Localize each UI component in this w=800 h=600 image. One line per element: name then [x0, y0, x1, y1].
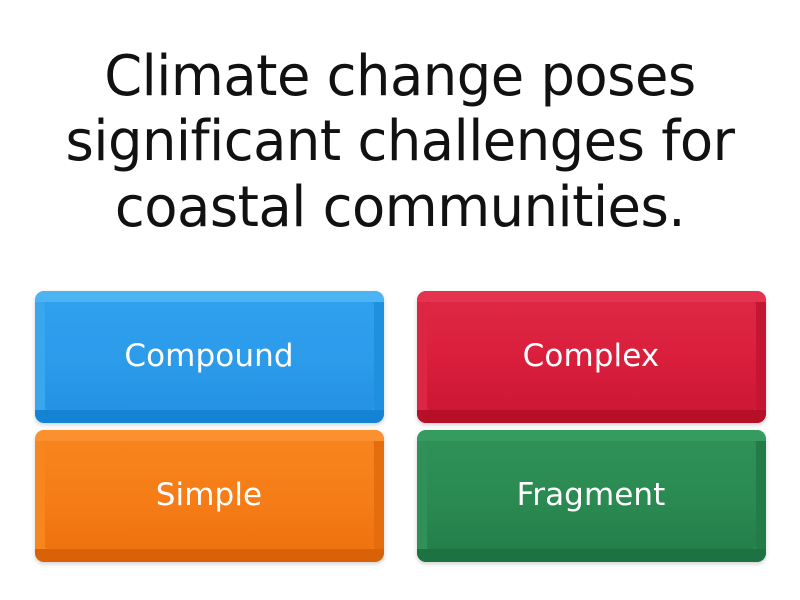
button-bevel-bottom [35, 410, 384, 423]
button-inner-panel: Compound [45, 302, 374, 410]
button-bevel-top [35, 430, 384, 441]
question-text: Climate change poses significant challen… [26, 44, 775, 241]
answer-option-simple[interactable]: Simple [35, 430, 384, 562]
button-bevel-top [35, 291, 384, 302]
button-bevel-right [756, 291, 766, 423]
button-bevel-top [417, 291, 766, 302]
answer-option-label: Complex [523, 341, 660, 372]
answer-option-fragment[interactable]: Fragment [417, 430, 766, 562]
question-area: Climate change poses significant challen… [0, 0, 800, 278]
answer-option-label: Compound [124, 341, 293, 372]
button-bevel-top [417, 430, 766, 441]
button-inner-panel: Complex [427, 302, 756, 410]
button-inner-panel: Fragment [427, 441, 756, 549]
answer-options-grid: Compound Complex Simple [0, 278, 800, 600]
button-bevel-bottom [417, 410, 766, 423]
button-bevel-left [35, 430, 45, 562]
button-bevel-left [35, 291, 45, 423]
answer-option-label: Simple [156, 480, 262, 511]
button-bevel-right [374, 291, 384, 423]
button-bevel-left [417, 291, 427, 423]
answer-option-label: Fragment [517, 480, 666, 511]
quiz-stage: Climate change poses significant challen… [0, 0, 800, 600]
button-inner-panel: Simple [45, 441, 374, 549]
answer-option-complex[interactable]: Complex [417, 291, 766, 423]
button-bevel-right [374, 430, 384, 562]
answer-option-compound[interactable]: Compound [35, 291, 384, 423]
button-bevel-bottom [35, 549, 384, 562]
button-bevel-left [417, 430, 427, 562]
button-bevel-right [756, 430, 766, 562]
button-bevel-bottom [417, 549, 766, 562]
